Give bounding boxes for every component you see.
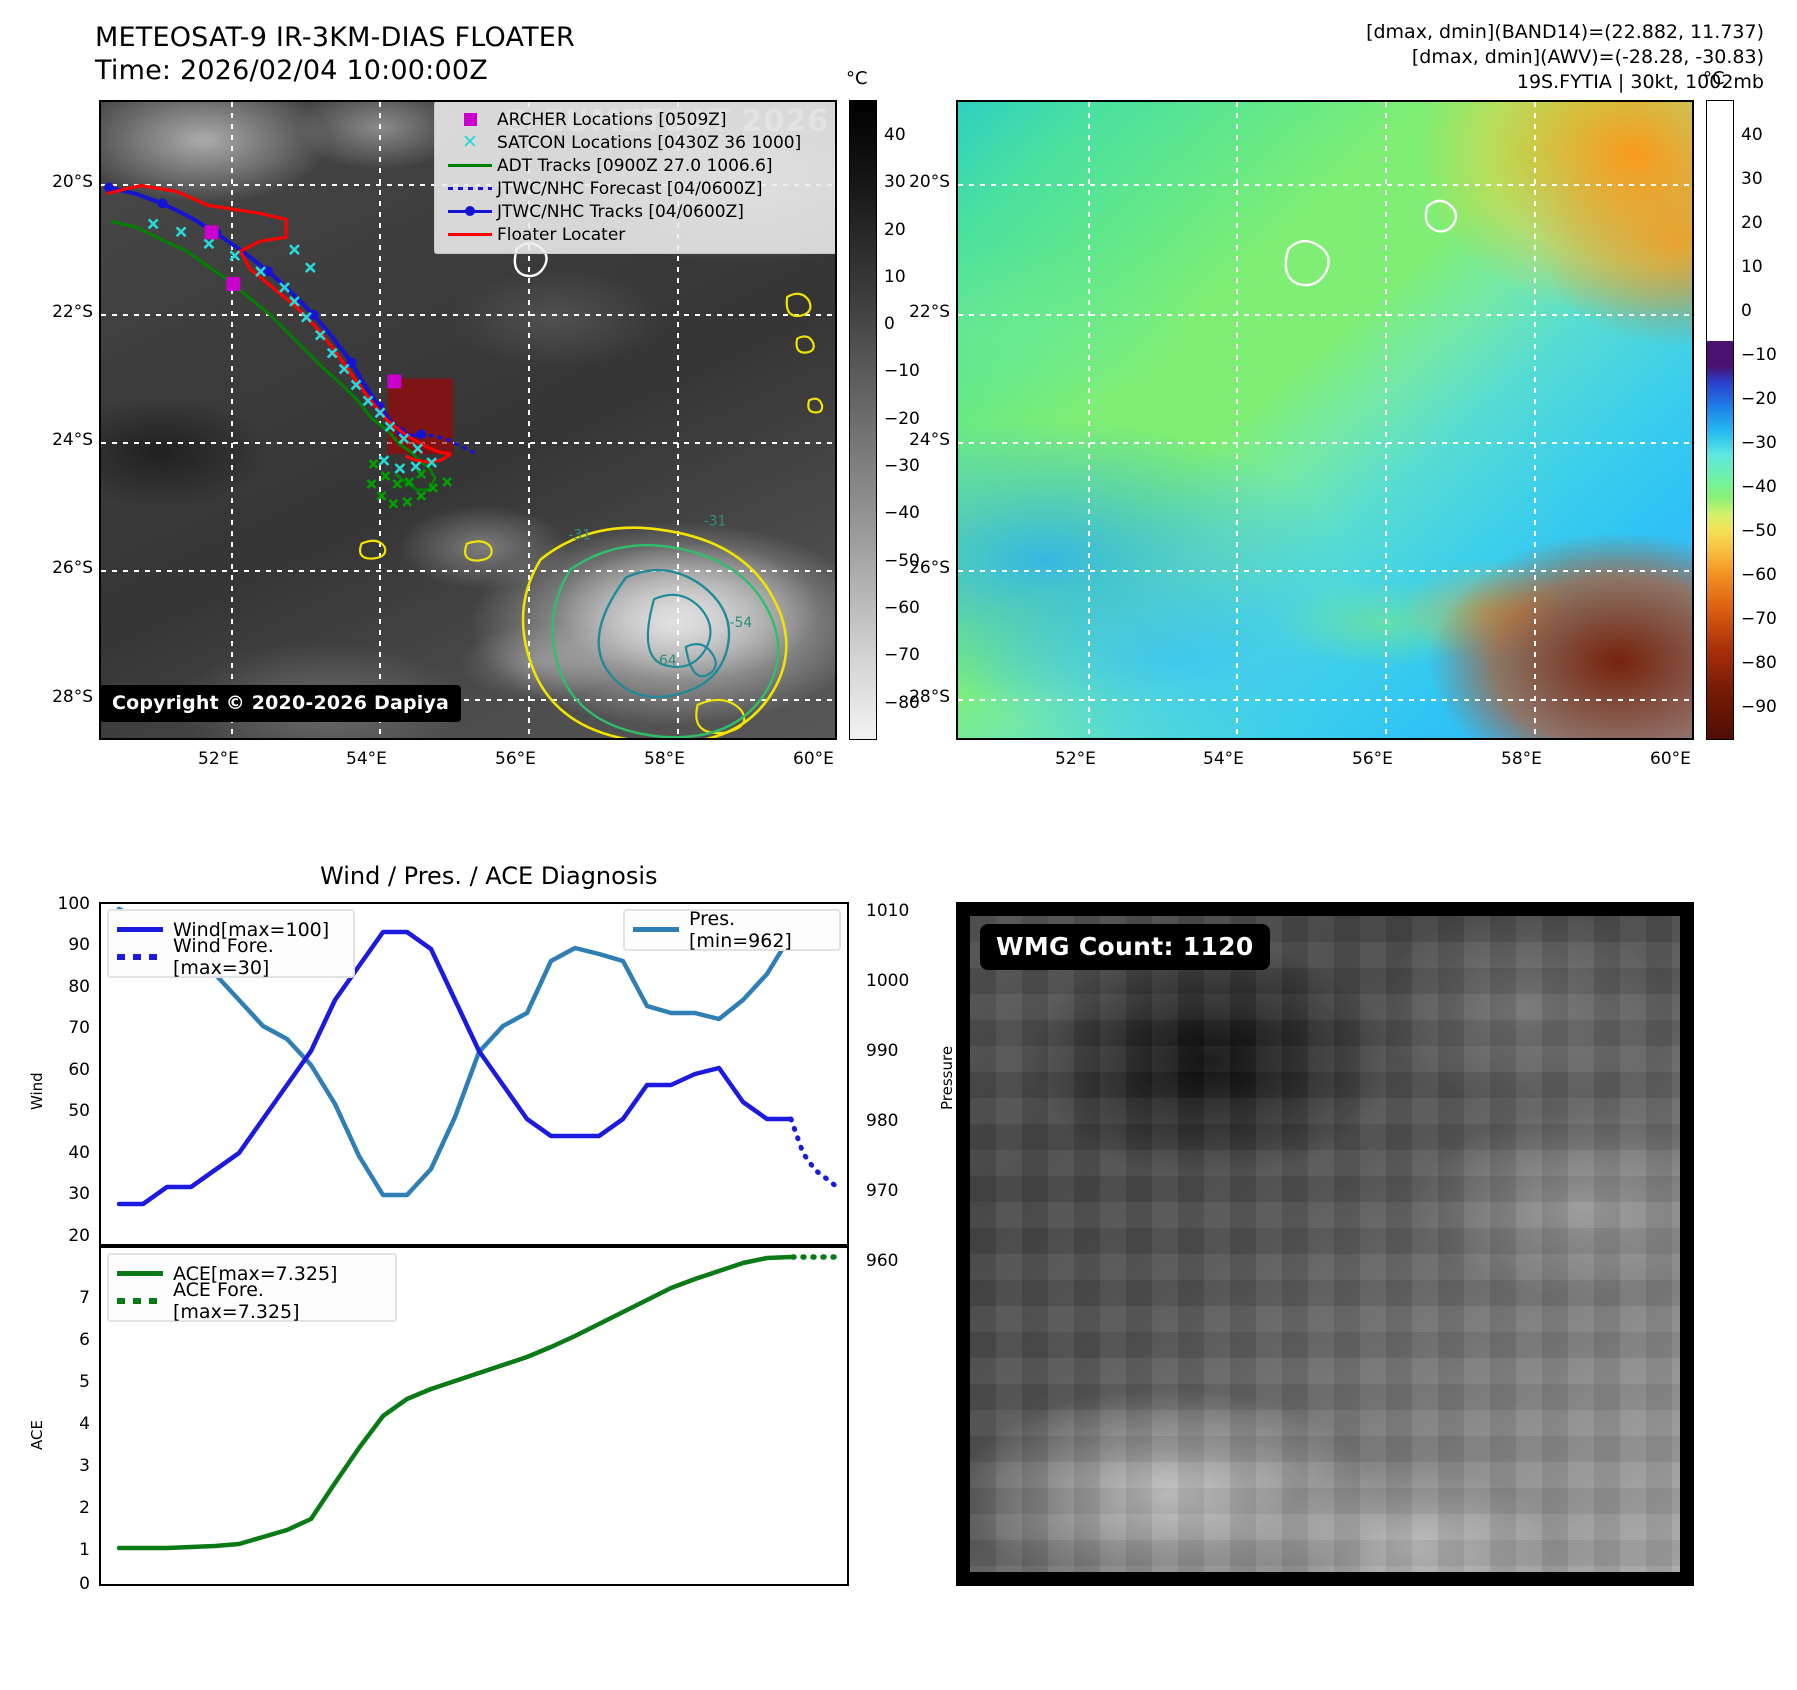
- ace-ytick-5: 5: [20, 1372, 90, 1392]
- ace-ytick-7: 7: [20, 1288, 90, 1308]
- ir-cb-tick-6: −20: [884, 409, 920, 429]
- legend-label: JTWC/NHC Forecast [04/0600Z]: [497, 179, 762, 199]
- awv-cb-tick-1: 30: [1741, 169, 1763, 189]
- awv-ytick-2: 24°S: [882, 430, 950, 450]
- legend-label: Pres.[min=962]: [689, 908, 829, 952]
- square-marker-icon: [443, 113, 497, 126]
- legend-item-archer: ARCHER Locations [0509Z]: [443, 108, 829, 131]
- pressure-axis-label: Pressure: [938, 1046, 956, 1110]
- wind-ytick-80: 80: [20, 977, 90, 997]
- legend-label: ADT Tracks [0900Z 27.0 1006.6]: [497, 156, 773, 176]
- legend-item-tracks: JTWC/NHC Tracks [04/0600Z]: [443, 200, 829, 223]
- wmg-panel[interactable]: WMG Count: 1120: [956, 902, 1694, 1586]
- x-marker-icon: ✕: [443, 133, 497, 152]
- wind-legend: Wind[max=100] Wind Fore.[max=30]: [107, 909, 355, 978]
- pres-ytick-990: 990: [866, 1041, 898, 1061]
- dotted-line-icon: [443, 187, 497, 190]
- steelblue-solid-line-icon: [633, 927, 689, 932]
- awv-ytick-1: 22°S: [882, 302, 950, 322]
- legend-label: Wind Fore.[max=30]: [173, 935, 343, 979]
- legend-item-floater: Floater Locater: [443, 223, 829, 246]
- ir-xtick-3: 58°E: [644, 749, 685, 769]
- awv-minmax-text: [dmax, dmin](AWV)=(-28.28, -30.83): [1124, 45, 1764, 71]
- legend-label: Floater Locater: [497, 225, 625, 245]
- ir-cb-tick-7: −30: [884, 456, 920, 476]
- ir-colorbar-unit: °C: [846, 68, 868, 89]
- ace-axis-label: ACE: [28, 1420, 46, 1450]
- ir-xtick-2: 56°E: [495, 749, 536, 769]
- pressure-legend: Pres.[min=962]: [623, 909, 841, 951]
- ir-map-legend: ARCHER Locations [0509Z] ✕ SATCON Locati…: [434, 101, 837, 254]
- awv-cb-tick-12: −80: [1741, 653, 1777, 673]
- legend-item-ace-forecast: ACE Fore.[max=7.325]: [117, 1287, 385, 1314]
- pres-ytick-1000: 1000: [866, 971, 909, 991]
- wmg-pixel-grid: [970, 916, 1680, 1572]
- green-line-icon: [443, 164, 497, 167]
- legend-label: SATCON Locations [0430Z 36 1000]: [497, 133, 801, 153]
- wind-ytick-30: 30: [20, 1184, 90, 1204]
- pres-ytick-980: 980: [866, 1111, 898, 1131]
- ir-cb-tick-0: 40: [884, 125, 906, 145]
- ir-ytick-4: 28°S: [25, 687, 93, 707]
- legend-label: ARCHER Locations [0509Z]: [497, 110, 727, 130]
- wind-axis-label: Wind: [28, 1072, 46, 1110]
- storm-summary-text: 19S.FYTIA | 30kt, 1002mb: [1124, 70, 1764, 96]
- ir-ytick-0: 20°S: [25, 172, 93, 192]
- ir-cb-tick-2: 20: [884, 220, 906, 240]
- green-dotted-line-icon: [117, 1298, 173, 1304]
- pres-ytick-970: 970: [866, 1181, 898, 1201]
- awv-cb-tick-13: −90: [1741, 697, 1777, 717]
- awv-cb-tick-9: −50: [1741, 521, 1777, 541]
- screenshot-root: METEOSAT-9 IR-3KM-DIAS FLOATER Time: 202…: [0, 0, 1797, 1690]
- ir-ytick-2: 24°S: [25, 430, 93, 450]
- ace-ytick-2: 2: [20, 1498, 90, 1518]
- awv-xtick-4: 60°E: [1650, 749, 1691, 769]
- band14-minmax-text: [dmax, dmin](BAND14)=(22.882, 11.737): [1124, 20, 1764, 46]
- legend-item-adt: ADT Tracks [0900Z 27.0 1006.6]: [443, 154, 829, 177]
- awv-island-outlines: [958, 102, 1692, 739]
- ir-ytick-3: 26°S: [25, 558, 93, 578]
- page-title-line2: Time: 2026/02/04 10:00:00Z: [95, 55, 488, 86]
- ir-cb-tick-10: −60: [884, 598, 920, 618]
- awv-xtick-3: 58°E: [1501, 749, 1542, 769]
- pres-ytick-960: 960: [866, 1251, 898, 1271]
- awv-xtick-1: 54°E: [1203, 749, 1244, 769]
- wind-ytick-100: 100: [20, 894, 90, 914]
- awv-cb-tick-7: −30: [1741, 433, 1777, 453]
- awv-cb-tick-2: 20: [1741, 213, 1763, 233]
- green-solid-line-icon: [117, 1271, 173, 1276]
- awv-colorbar: [1706, 100, 1734, 740]
- ir-xtick-4: 60°E: [793, 749, 834, 769]
- legend-item-forecast: JTWC/NHC Forecast [04/0600Z]: [443, 177, 829, 200]
- ir-cb-tick-11: −70: [884, 645, 920, 665]
- page-title-line1: METEOSAT-9 IR-3KM-DIAS FLOATER: [95, 22, 575, 53]
- ace-ytick-3: 3: [20, 1456, 90, 1476]
- awv-ytick-3: 26°S: [882, 558, 950, 578]
- series-wind-forecast: [791, 1119, 837, 1187]
- red-line-icon: [443, 233, 497, 236]
- pres-ytick-1010: 1010: [866, 901, 909, 921]
- legend-label: JTWC/NHC Tracks [04/0600Z]: [497, 202, 744, 222]
- awv-ytick-0: 20°S: [882, 172, 950, 192]
- awv-cb-tick-5: −10: [1741, 345, 1777, 365]
- ir-ytick-1: 22°S: [25, 302, 93, 322]
- ir-colorbar: [849, 100, 877, 740]
- wmg-count-badge: WMG Count: 1120: [980, 924, 1270, 970]
- ace-ytick-6: 6: [20, 1330, 90, 1350]
- awv-colorbar-unit: °C: [1703, 68, 1725, 89]
- copyright-badge: Copyright © 2020-2026 Dapiya: [100, 685, 461, 722]
- ir-satellite-map[interactable]: -31 -31 -54 -64: [99, 100, 837, 740]
- blue-solid-line-icon: [117, 927, 173, 932]
- awv-cb-tick-4: 0: [1741, 301, 1752, 321]
- ir-cb-tick-5: −10: [884, 361, 920, 381]
- ir-cb-tick-8: −40: [884, 503, 920, 523]
- ace-legend: ACE[max=7.325] ACE Fore.[max=7.325]: [107, 1253, 397, 1322]
- wmg-imagery: [970, 916, 1680, 1572]
- legend-item-wind-forecast: Wind Fore.[max=30]: [117, 943, 343, 970]
- ace-ytick-0: 0: [20, 1574, 90, 1594]
- awv-cb-tick-11: −70: [1741, 609, 1777, 629]
- legend-item-pressure: Pres.[min=962]: [633, 916, 829, 943]
- blue-dotted-line-icon: [117, 954, 173, 960]
- awv-cb-tick-0: 40: [1741, 125, 1763, 145]
- wind-ytick-90: 90: [20, 935, 90, 955]
- awv-ytick-4: 28°S: [882, 687, 950, 707]
- legend-label: ACE Fore.[max=7.325]: [173, 1279, 385, 1323]
- awv-cb-tick-3: 10: [1741, 257, 1763, 277]
- wind-ytick-70: 70: [20, 1018, 90, 1038]
- ace-ytick-1: 1: [20, 1540, 90, 1560]
- wind-pressure-chart[interactable]: Wind[max=100] Wind Fore.[max=30] Pres.[m…: [99, 902, 849, 1246]
- awv-cb-tick-8: −40: [1741, 477, 1777, 497]
- line-marker-icon: [443, 210, 497, 213]
- awv-xtick-2: 56°E: [1352, 749, 1393, 769]
- awv-cb-tick-6: −20: [1741, 389, 1777, 409]
- wind-ytick-40: 40: [20, 1143, 90, 1163]
- ir-xtick-0: 52°E: [198, 749, 239, 769]
- awv-satellite-map[interactable]: [956, 100, 1694, 740]
- ir-xtick-1: 54°E: [346, 749, 387, 769]
- ace-chart[interactable]: ACE[max=7.325] ACE Fore.[max=7.325]: [99, 1246, 849, 1586]
- awv-cb-tick-10: −60: [1741, 565, 1777, 585]
- legend-item-satcon: ✕ SATCON Locations [0430Z 36 1000]: [443, 131, 829, 154]
- diagnosis-chart-title: Wind / Pres. / ACE Diagnosis: [320, 862, 658, 890]
- awv-xtick-0: 52°E: [1055, 749, 1096, 769]
- wind-ytick-20: 20: [20, 1226, 90, 1246]
- ir-cb-tick-3: 10: [884, 267, 906, 287]
